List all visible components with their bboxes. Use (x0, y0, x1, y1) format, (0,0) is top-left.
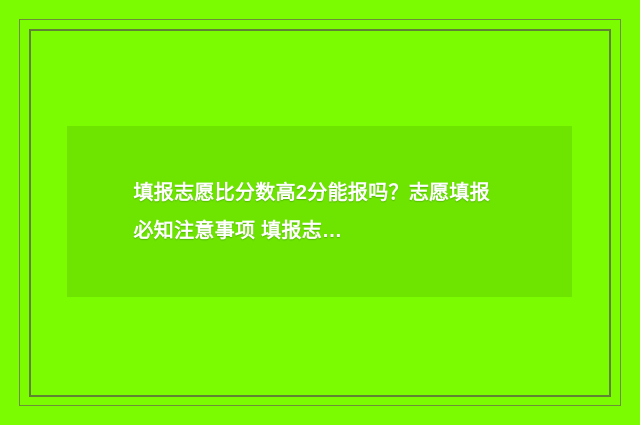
image-canvas: 填报志愿比分数高2分能报吗？志愿填报必知注意事项 填报志… (0, 0, 640, 425)
headline-text: 填报志愿比分数高2分能报吗？志愿填报必知注意事项 填报志… (134, 174, 506, 250)
headline-overlay-panel: 填报志愿比分数高2分能报吗？志愿填报必知注意事项 填报志… (67, 126, 572, 297)
